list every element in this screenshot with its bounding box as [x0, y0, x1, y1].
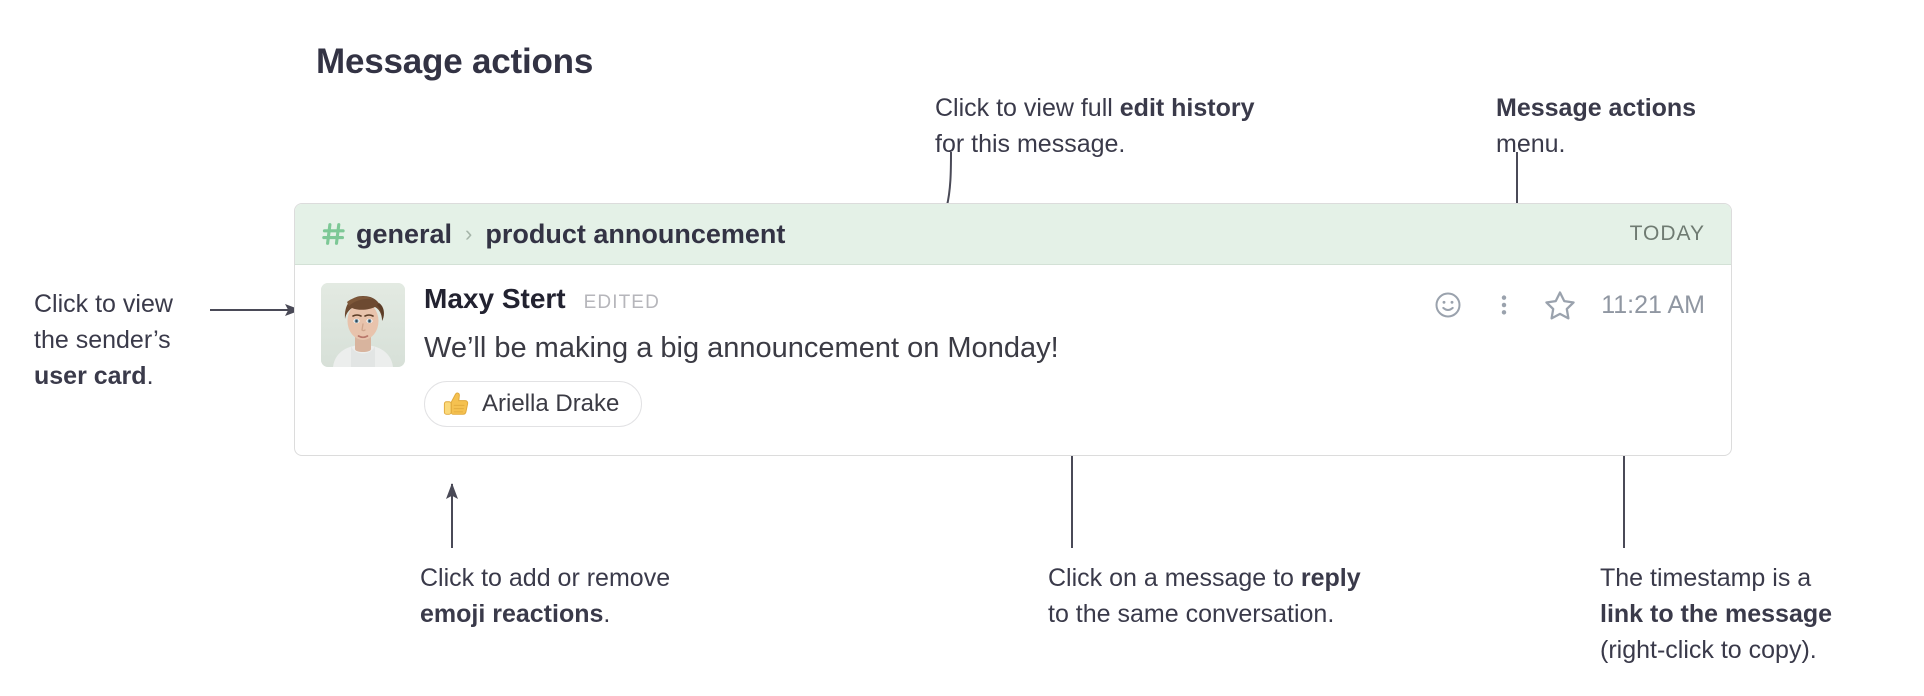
annotation-emphasis: emoji reactions	[420, 600, 603, 628]
message-card: general › product announcement TODAY	[294, 203, 1732, 456]
topic-name[interactable]: product announcement	[485, 219, 785, 250]
message-row[interactable]: Maxy Stert EDITED We’ll be making a big …	[295, 265, 1731, 427]
edited-label[interactable]: EDITED	[584, 292, 660, 314]
thumbs-up-icon	[441, 389, 471, 419]
reaction-chip[interactable]: Ariella Drake	[424, 381, 642, 427]
emoji-reaction-icon[interactable]	[1431, 288, 1465, 322]
annotation-emphasis: edit history	[1120, 94, 1255, 122]
annotation-line: The timestamp is a	[1600, 560, 1832, 596]
annotation-timestamp: The timestamp is a link to the message (…	[1600, 560, 1832, 668]
breadcrumb-separator-icon: ›	[465, 223, 472, 245]
avatar[interactable]	[321, 283, 405, 367]
avatar-photo	[321, 283, 405, 367]
channel-name[interactable]: general	[356, 219, 452, 250]
date-label: TODAY	[1630, 222, 1705, 246]
annotation-line: (right-click to copy).	[1600, 632, 1832, 668]
annotation-prefix: Click to view full	[935, 94, 1120, 122]
annotation-line: Click to add or remove	[420, 560, 670, 596]
annotation-line: for this message.	[935, 126, 1255, 162]
annotation-line: menu.	[1496, 126, 1696, 162]
annotation-line: the sender’s	[34, 322, 173, 358]
annotation-edit-history: Click to view full edit history for this…	[935, 90, 1255, 162]
annotation-line: user card.	[34, 358, 173, 394]
annotation-emphasis: Message actions	[1496, 94, 1696, 122]
annotation-actions-menu: Message actions menu.	[1496, 90, 1696, 162]
message-actions-menu-icon[interactable]	[1487, 288, 1521, 322]
annotation-line: to the same conversation.	[1048, 596, 1361, 632]
sender-name[interactable]: Maxy Stert	[424, 283, 566, 315]
annotation-line: emoji reactions.	[420, 596, 670, 632]
hash-icon	[321, 221, 347, 247]
page-title: Message actions	[316, 42, 593, 82]
annotation-emphasis: link to the message	[1600, 600, 1832, 628]
annotation-emphasis: user card	[34, 362, 147, 390]
reactions-list: Ariella Drake	[424, 381, 1705, 427]
reaction-user-name: Ariella Drake	[482, 390, 619, 418]
message-body[interactable]: We’ll be making a big announcement on Mo…	[424, 329, 1705, 367]
annotation-emoji-reactions: Click to add or remove emoji reactions.	[420, 560, 670, 632]
star-message-icon[interactable]	[1543, 288, 1577, 322]
annotation-reply: Click on a message to reply to the same …	[1048, 560, 1361, 632]
annotation-line: Click on a message to reply	[1048, 560, 1361, 596]
annotation-line: Click to view	[34, 286, 173, 322]
annotation-user-card: Click to view the sender’s user card.	[34, 286, 173, 394]
recipient-bar: general › product announcement TODAY	[295, 204, 1731, 265]
annotation-suffix: .	[147, 362, 154, 390]
message-timestamp[interactable]: 11:21 AM	[1601, 291, 1705, 320]
message-actions: 11:21 AM	[1431, 285, 1705, 325]
annotation-line: Message actions	[1496, 90, 1696, 126]
annotation-line: Click to view full edit history	[935, 90, 1255, 126]
annotation-suffix: .	[603, 600, 610, 628]
annotation-prefix: Click on a message to	[1048, 564, 1301, 592]
annotation-line: link to the message	[1600, 596, 1832, 632]
annotation-emphasis: reply	[1301, 564, 1361, 592]
